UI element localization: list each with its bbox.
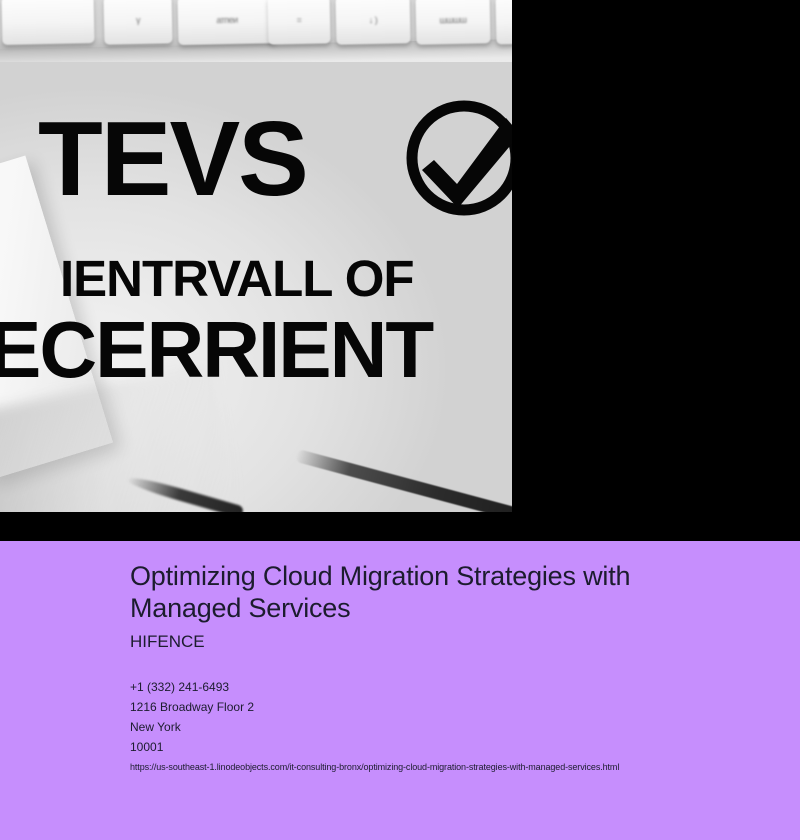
content-section: Optimizing Cloud Migration Strategies wi… (0, 541, 800, 840)
photo-overlay-text: TEVS IENTRVALL OF ECERRIENT (0, 0, 512, 512)
contact-postal-code: 10001 (130, 737, 254, 757)
page-root: γ атпеи = ↓ ) шшшш (0, 0, 800, 840)
contact-phone: +1 (332) 241-6493 (130, 677, 254, 697)
source-url[interactable]: https://us-southeast-1.linodeobjects.com… (130, 762, 619, 772)
hero-image: γ атпеи = ↓ ) шшшш (0, 0, 512, 512)
contact-street: 1216 Broadway Floor 2 (130, 697, 254, 717)
contact-info: +1 (332) 241-6493 1216 Broadway Floor 2 … (130, 677, 254, 757)
brand-name: HIFENCE (130, 632, 205, 652)
photo-headline-line-3: ECERRIENT (0, 310, 432, 390)
contact-city: New York (130, 717, 254, 737)
hero-band: γ атпеи = ↓ ) шшшш (0, 0, 800, 541)
circled-checkmark-icon (402, 96, 512, 220)
photo-headline-line-1: TEVS (38, 106, 307, 212)
page-title: Optimizing Cloud Migration Strategies wi… (130, 561, 730, 624)
photo-headline-line-2: IENTRVALL OF (60, 253, 414, 304)
